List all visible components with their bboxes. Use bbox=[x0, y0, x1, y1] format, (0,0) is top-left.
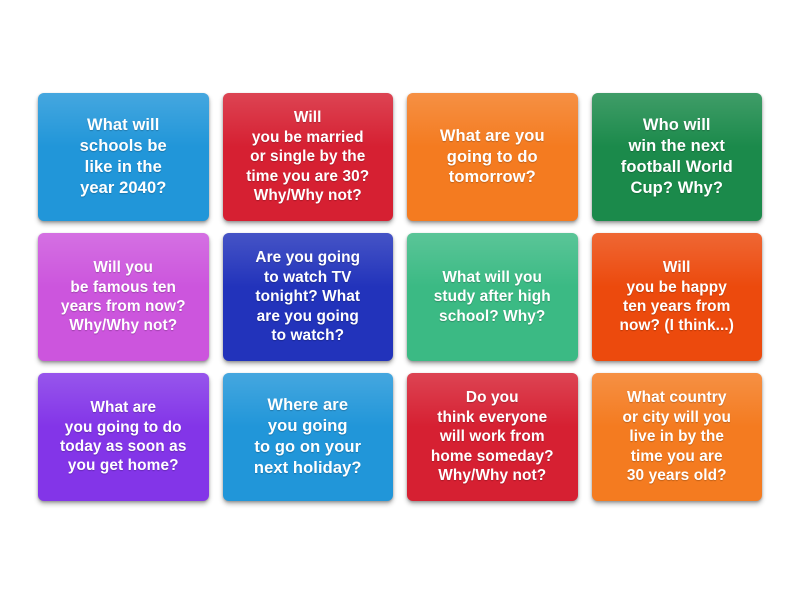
question-card-text: Do you think everyone will work from hom… bbox=[431, 388, 554, 485]
question-card-text: Will you be married or single by the tim… bbox=[246, 108, 369, 205]
question-card-text: Where are you going to go on your next h… bbox=[254, 395, 362, 478]
question-card-6[interactable]: Are you going to watch TV tonight? What … bbox=[223, 233, 394, 361]
question-card-text: Who will win the next football World Cup… bbox=[621, 115, 733, 198]
question-card-3[interactable]: What are you going to do tomorrow? bbox=[407, 93, 578, 221]
question-card-8[interactable]: Will you be happy ten years from now? (I… bbox=[592, 233, 763, 361]
question-card-text: Will you be famous ten years from now? W… bbox=[61, 258, 186, 336]
question-card-9[interactable]: What are you going to do today as soon a… bbox=[38, 373, 209, 501]
question-card-text: What country or city will you live in by… bbox=[622, 388, 731, 485]
question-card-4[interactable]: Who will win the next football World Cup… bbox=[592, 93, 763, 221]
question-card-text: What are you going to do tomorrow? bbox=[440, 126, 545, 188]
question-card-10[interactable]: Where are you going to go on your next h… bbox=[223, 373, 394, 501]
question-card-text: Will you be happy ten years from now? (I… bbox=[619, 258, 734, 336]
card-grid: What will schools be like in the year 20… bbox=[38, 93, 762, 501]
question-card-7[interactable]: What will you study after high school? W… bbox=[407, 233, 578, 361]
question-card-2[interactable]: Will you be married or single by the tim… bbox=[223, 93, 394, 221]
question-card-text: Are you going to watch TV tonight? What … bbox=[255, 248, 360, 345]
question-card-12[interactable]: What country or city will you live in by… bbox=[592, 373, 763, 501]
question-card-text: What are you going to do today as soon a… bbox=[60, 398, 186, 476]
question-card-1[interactable]: What will schools be like in the year 20… bbox=[38, 93, 209, 221]
question-card-text: What will schools be like in the year 20… bbox=[80, 115, 167, 198]
question-card-text: What will you study after high school? W… bbox=[434, 268, 551, 326]
question-card-5[interactable]: Will you be famous ten years from now? W… bbox=[38, 233, 209, 361]
question-card-11[interactable]: Do you think everyone will work from hom… bbox=[407, 373, 578, 501]
